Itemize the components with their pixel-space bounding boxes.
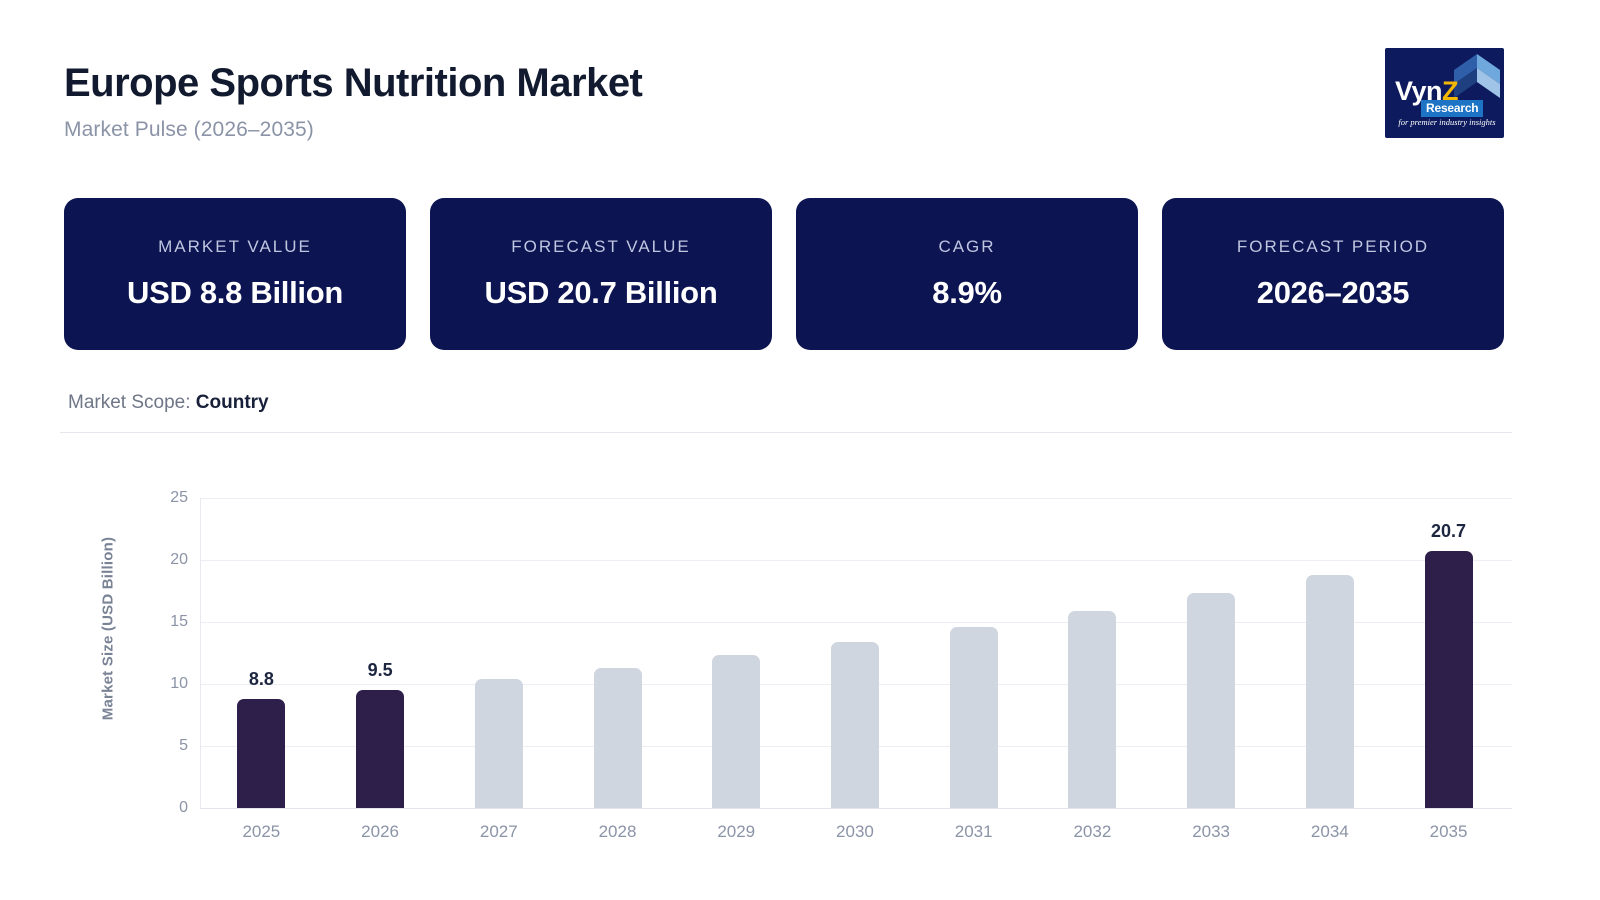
bar-slot: 8.8 (203, 498, 321, 808)
bar[interactable] (950, 627, 998, 808)
bar[interactable] (1187, 593, 1235, 808)
y-axis-tick: 20 (140, 551, 188, 569)
y-axis-tick: 0 (140, 799, 188, 817)
bar[interactable] (831, 642, 879, 808)
bar-slot (677, 498, 795, 808)
bar-slot (1152, 498, 1270, 808)
bar[interactable]: 9.5 (356, 690, 404, 808)
bar[interactable] (1068, 611, 1116, 808)
kpi-card-forecast-value: FORECAST VALUE USD 20.7 Billion (430, 198, 772, 350)
y-axis-tick: 25 (140, 489, 188, 507)
page-subtitle: Market Pulse (2026–2035) (64, 118, 1504, 142)
bar-slot (1271, 498, 1389, 808)
kpi-card-market-value: MARKET VALUE USD 8.8 Billion (64, 198, 406, 350)
y-axis-line (200, 498, 201, 808)
plot-area: 2520151050 8.89.520.7 (140, 498, 1512, 808)
header: Europe Sports Nutrition Market Market Pu… (64, 62, 1504, 172)
kpi-label: CAGR (938, 237, 995, 257)
x-axis-tick: 2034 (1271, 822, 1389, 842)
x-axis-tick: 2025 (203, 822, 321, 842)
x-axis-tick: 2026 (321, 822, 439, 842)
kpi-value: USD 8.8 Billion (127, 275, 343, 311)
x-axis-tick: 2035 (1390, 822, 1508, 842)
bar-value-label: 20.7 (1431, 521, 1466, 542)
bar-value-label: 8.8 (249, 669, 274, 690)
bar[interactable] (475, 679, 523, 808)
x-axis-tick: 2030 (796, 822, 914, 842)
y-axis-tick: 10 (140, 675, 188, 693)
x-axis-tick: 2033 (1152, 822, 1270, 842)
kpi-label: FORECAST PERIOD (1237, 237, 1429, 257)
x-axis-labels: 2025202620272028202920302031203220332034… (202, 822, 1508, 842)
kpi-value: 2026–2035 (1257, 275, 1409, 311)
market-size-bar-chart: Market Size (USD Billion) 2520151050 8.8… (60, 470, 1512, 870)
vynz-research-logo: VynZ Research for premier industry insig… (1385, 48, 1504, 138)
bar[interactable] (594, 668, 642, 808)
kpi-label: MARKET VALUE (158, 237, 312, 257)
page-title: Europe Sports Nutrition Market (64, 62, 1504, 104)
section-divider (60, 432, 1512, 433)
bar-value-label: 9.5 (368, 660, 393, 681)
kpi-card-forecast-period: FORECAST PERIOD 2026–2035 (1162, 198, 1504, 350)
arrow-icon (1454, 54, 1500, 102)
y-axis-title: Market Size (USD Billion) (100, 519, 117, 739)
gridline (200, 808, 1512, 809)
kpi-card-row: MARKET VALUE USD 8.8 Billion FORECAST VA… (64, 198, 1504, 350)
kpi-value: 8.9% (932, 275, 1001, 311)
bar[interactable]: 8.8 (237, 699, 285, 808)
bar[interactable]: 20.7 (1425, 551, 1473, 808)
bar-slot (559, 498, 677, 808)
bar-slot (915, 498, 1033, 808)
y-axis-tick: 5 (140, 737, 188, 755)
bar-series: 8.89.520.7 (202, 498, 1508, 808)
kpi-card-cagr: CAGR 8.9% (796, 198, 1138, 350)
bar-slot (1034, 498, 1152, 808)
bar-slot (440, 498, 558, 808)
infographic-page: Europe Sports Nutrition Market Market Pu… (0, 0, 1600, 900)
y-axis-tick: 15 (140, 613, 188, 631)
logo-tagline: for premier industry insights (1397, 117, 1497, 127)
market-scope-label: Market Scope: (68, 392, 191, 413)
market-scope: Market Scope: Country (68, 392, 269, 414)
bar-slot: 20.7 (1390, 498, 1508, 808)
x-axis-tick: 2027 (440, 822, 558, 842)
bar[interactable] (712, 655, 760, 808)
x-axis-tick: 2028 (559, 822, 677, 842)
logo-research-label: Research (1421, 100, 1483, 117)
market-scope-value: Country (196, 392, 269, 413)
x-axis-tick: 2031 (915, 822, 1033, 842)
kpi-value: USD 20.7 Billion (485, 275, 718, 311)
bar-slot (796, 498, 914, 808)
bar[interactable] (1306, 575, 1354, 808)
x-axis-tick: 2029 (677, 822, 795, 842)
x-axis-tick: 2032 (1034, 822, 1152, 842)
kpi-label: FORECAST VALUE (511, 237, 690, 257)
bar-slot: 9.5 (321, 498, 439, 808)
